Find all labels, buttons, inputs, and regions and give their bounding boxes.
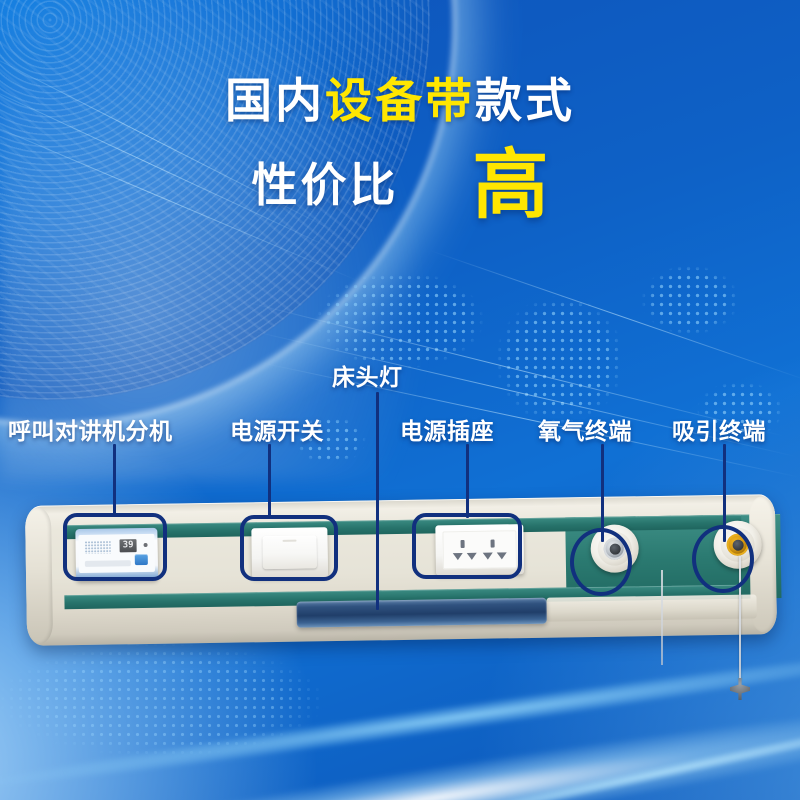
promo-banner: 国内设备带款式 性价比 高 呼叫对讲机分机 电源开关 床头灯 电源插座 氧气终端… <box>0 0 800 800</box>
callout-ring-intercom <box>63 513 167 581</box>
callout-layer: 呼叫对讲机分机 电源开关 床头灯 电源插座 氧气终端 吸引终端 <box>0 0 800 800</box>
callout-label-suction-terminal: 吸引终端 <box>672 412 766 446</box>
callout-line-power-socket <box>466 444 469 518</box>
callout-label-power-socket: 电源插座 <box>400 412 494 446</box>
callout-label-intercom: 呼叫对讲机分机 <box>8 412 173 446</box>
callout-ring-suction-terminal <box>692 525 754 593</box>
callout-label-power-switch: 电源开关 <box>230 412 324 446</box>
callout-ring-oxygen-terminal <box>570 528 632 596</box>
callout-label-oxygen-terminal: 氧气终端 <box>538 412 632 446</box>
callout-label-bed-lamp: 床头灯 <box>332 358 403 392</box>
callout-line-power-switch <box>268 444 271 518</box>
callout-ring-power-switch <box>240 515 338 581</box>
callout-line-intercom <box>113 444 116 516</box>
callout-ring-power-socket <box>412 513 522 579</box>
callout-line-bed-lamp <box>376 392 379 610</box>
